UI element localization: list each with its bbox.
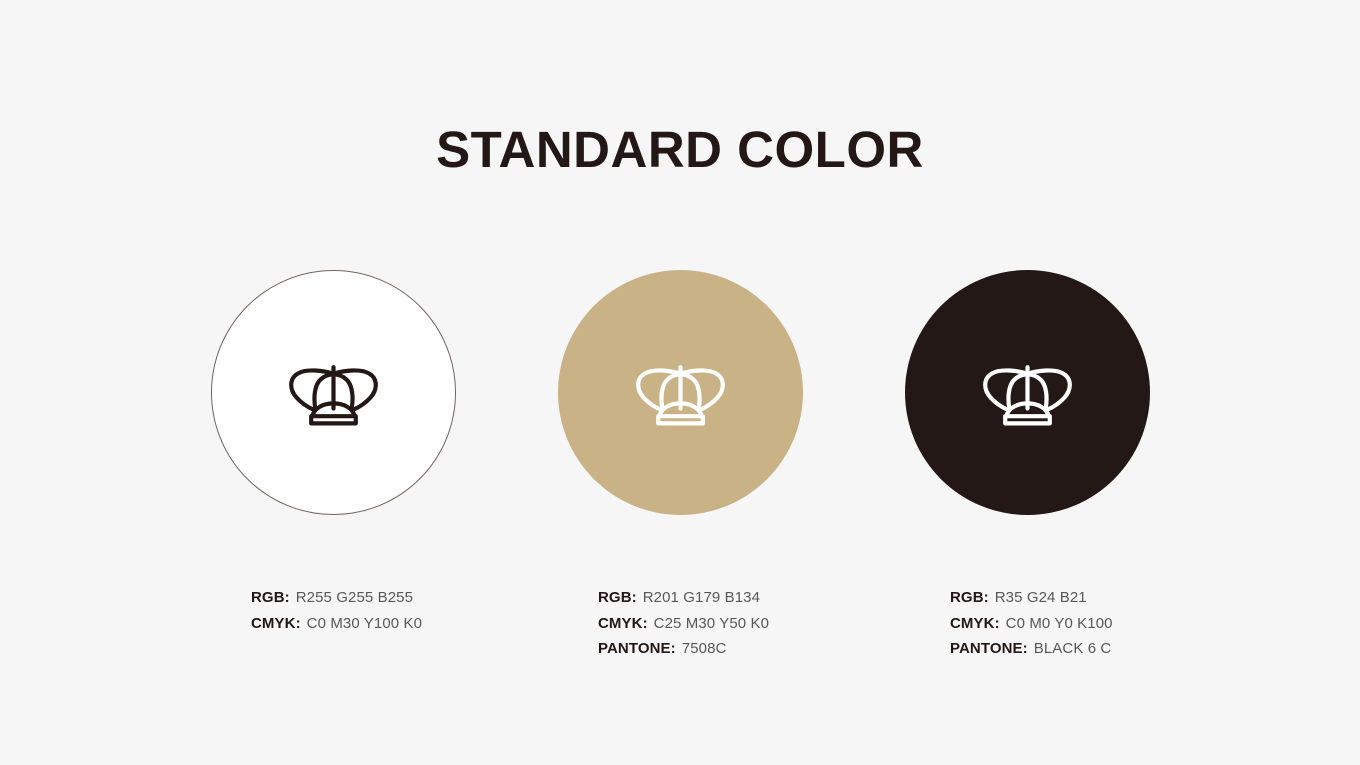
spec-label: RGB: bbox=[251, 589, 290, 606]
spec-value: C25 M30 Y50 K0 bbox=[654, 615, 769, 632]
spec-value: 7508C bbox=[682, 640, 727, 657]
crown-icon bbox=[981, 361, 1073, 427]
color-swatch-gold: RGB:R201 G179 B134 CMYK:C25 M30 Y50 K0 P… bbox=[510, 270, 850, 515]
color-circle-black bbox=[905, 270, 1150, 515]
page-title: STANDARD COLOR bbox=[0, 118, 1360, 182]
spec-value: C0 M0 Y0 K100 bbox=[1006, 615, 1113, 632]
color-swatch-black: RGB:R35 G24 B21 CMYK:C0 M0 Y0 K100 PANTO… bbox=[857, 270, 1197, 515]
spec-row: CMYK:C0 M0 Y0 K100 bbox=[950, 611, 1290, 637]
spec-label: PANTONE: bbox=[950, 640, 1028, 657]
color-spec-list-black: RGB:R35 G24 B21 CMYK:C0 M0 Y0 K100 PANTO… bbox=[857, 585, 1290, 662]
spec-label: CMYK: bbox=[598, 615, 648, 632]
spec-value: R255 G255 B255 bbox=[296, 589, 413, 606]
spec-value: C0 M30 Y100 K0 bbox=[307, 615, 422, 632]
spec-value: BLACK 6 C bbox=[1034, 640, 1112, 657]
spec-row: RGB:R35 G24 B21 bbox=[950, 585, 1290, 611]
color-swatch-white: RGB:R255 G255 B255 CMYK:C0 M30 Y100 K0 bbox=[163, 270, 503, 515]
spec-value: R35 G24 B21 bbox=[995, 589, 1087, 606]
crown-icon bbox=[634, 361, 726, 427]
color-swatch-group: RGB:R255 G255 B255 CMYK:C0 M30 Y100 K0 bbox=[0, 270, 1360, 690]
color-circle-gold bbox=[558, 270, 803, 515]
spec-row: PANTONE:BLACK 6 C bbox=[950, 636, 1290, 662]
spec-label: RGB: bbox=[950, 589, 989, 606]
spec-label: CMYK: bbox=[251, 615, 301, 632]
spec-label: RGB: bbox=[598, 589, 637, 606]
standard-color-page: STANDARD COLOR bbox=[0, 0, 1360, 765]
crown-icon bbox=[287, 361, 379, 427]
spec-label: PANTONE: bbox=[598, 640, 676, 657]
spec-value: R201 G179 B134 bbox=[643, 589, 760, 606]
color-circle-white bbox=[211, 270, 456, 515]
spec-label: CMYK: bbox=[950, 615, 1000, 632]
